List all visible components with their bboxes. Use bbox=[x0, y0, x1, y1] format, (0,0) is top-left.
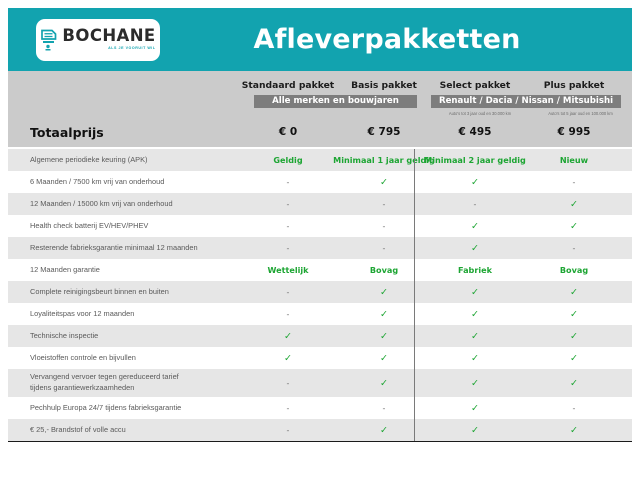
feature-label: 12 Maanden garantie bbox=[30, 259, 100, 281]
check-icon: ✓ bbox=[524, 215, 624, 237]
dash-icon: - bbox=[238, 171, 338, 193]
feature-label: Vloeistoffen controle en bijvullen bbox=[30, 347, 136, 369]
check-icon: ✓ bbox=[334, 325, 434, 347]
dash-icon: - bbox=[334, 215, 434, 237]
table-footer-space bbox=[8, 442, 632, 452]
check-icon: ✓ bbox=[425, 281, 525, 303]
dash-icon: - bbox=[238, 397, 338, 419]
check-icon: ✓ bbox=[425, 171, 525, 193]
feature-label: Vervangend vervoer tegen gereduceerd tar… bbox=[30, 369, 179, 397]
table-row: Loyaliteitspas voor 12 maanden-✓✓✓ bbox=[8, 303, 632, 325]
feature-label: Complete reinigingsbeurt binnen en buite… bbox=[30, 281, 169, 303]
table-row: Health check batterij EV/HEV/PHEV--✓✓ bbox=[8, 215, 632, 237]
check-icon: ✓ bbox=[425, 303, 525, 325]
feature-value: Minimaal 1 jaar geldig bbox=[334, 149, 434, 171]
feature-value: Bovag bbox=[334, 259, 434, 281]
feature-rows: Algemene periodieke keuring (APK)GeldigM… bbox=[8, 149, 632, 442]
feature-value: Fabriek bbox=[425, 259, 525, 281]
feature-label: € 25,- Brandstof of volle accu bbox=[30, 419, 126, 441]
check-icon: ✓ bbox=[238, 325, 338, 347]
check-icon: ✓ bbox=[334, 281, 434, 303]
feature-label: Algemene periodieke keuring (APK) bbox=[30, 149, 148, 171]
dash-icon: - bbox=[238, 369, 338, 397]
feature-label: Resterende fabrieksgarantie minimaal 12 … bbox=[30, 237, 198, 259]
check-icon: ✓ bbox=[425, 347, 525, 369]
dash-icon: - bbox=[238, 215, 338, 237]
dash-icon: - bbox=[524, 171, 624, 193]
dash-icon: - bbox=[238, 303, 338, 325]
dash-icon: - bbox=[524, 237, 624, 259]
check-icon: ✓ bbox=[524, 369, 624, 397]
table-row: 6 Maanden / 7500 km vrij van onderhoud-✓… bbox=[8, 171, 632, 193]
group-pill-left: Alle merken en bouwjaren bbox=[254, 95, 417, 108]
dash-icon: - bbox=[334, 237, 434, 259]
table-row: € 25,- Brandstof of volle accu-✓✓✓ bbox=[8, 419, 632, 441]
feature-label: Health check batterij EV/HEV/PHEV bbox=[30, 215, 148, 237]
dash-icon: - bbox=[238, 193, 338, 215]
check-icon: ✓ bbox=[425, 419, 525, 441]
check-icon: ✓ bbox=[334, 369, 434, 397]
dash-icon: - bbox=[238, 419, 338, 441]
check-icon: ✓ bbox=[425, 325, 525, 347]
table-row: Vervangend vervoer tegen gereduceerd tar… bbox=[8, 369, 632, 397]
feature-label: Loyaliteitspas voor 12 maanden bbox=[30, 303, 134, 325]
feature-value: Wettelijk bbox=[238, 259, 338, 281]
price-standaard: € 0 bbox=[238, 126, 338, 138]
price-plus: € 995 bbox=[524, 126, 624, 138]
dash-icon: - bbox=[238, 281, 338, 303]
table-row: 12 Maanden / 15000 km vrij van onderhoud… bbox=[8, 193, 632, 215]
feature-value: Minimaal 2 jaar geldig bbox=[425, 149, 525, 171]
check-icon: ✓ bbox=[334, 171, 434, 193]
column-title-plus: Plus pakket bbox=[524, 80, 624, 91]
check-icon: ✓ bbox=[425, 397, 525, 419]
page-title: Afleverpakketten bbox=[8, 24, 632, 55]
feature-label: 12 Maanden / 15000 km vrij van onderhoud bbox=[30, 193, 173, 215]
dash-icon: - bbox=[334, 193, 434, 215]
check-icon: ✓ bbox=[425, 215, 525, 237]
comparison-sheet: BOCHANE ALS JE VOORUIT WIL Afleverpakket… bbox=[8, 8, 632, 452]
price-select: € 495 bbox=[425, 126, 525, 138]
feature-label: Pechhulp Europa 24/7 tijdens fabrieksgar… bbox=[30, 397, 181, 419]
check-icon: ✓ bbox=[524, 325, 624, 347]
table-row: Resterende fabrieksgarantie minimaal 12 … bbox=[8, 237, 632, 259]
column-note-plus: Auto's tot 5 jaar oud en 100.000 km bbox=[528, 111, 632, 116]
column-title-standaard: Standaard pakket bbox=[238, 80, 338, 91]
feature-value: Geldig bbox=[238, 149, 338, 171]
check-icon: ✓ bbox=[524, 281, 624, 303]
column-header-band: Standaard pakket Basis pakket Select pak… bbox=[8, 71, 632, 119]
total-price-band: Totaalprijs € 0 € 795 € 495 € 995 bbox=[8, 119, 632, 149]
feature-label: 6 Maanden / 7500 km vrij van onderhoud bbox=[30, 171, 164, 193]
table-row: Technische inspectie✓✓✓✓ bbox=[8, 325, 632, 347]
column-title-select: Select pakket bbox=[425, 80, 525, 91]
group-pill-right: Renault / Dacia / Nissan / Mitsubishi bbox=[431, 95, 621, 108]
check-icon: ✓ bbox=[334, 419, 434, 441]
table-row: Pechhulp Europa 24/7 tijdens fabrieksgar… bbox=[8, 397, 632, 419]
check-icon: ✓ bbox=[334, 303, 434, 325]
check-icon: ✓ bbox=[524, 303, 624, 325]
page-root: BOCHANE ALS JE VOORUIT WIL Afleverpakket… bbox=[0, 0, 640, 480]
dash-icon: - bbox=[524, 397, 624, 419]
dash-icon: - bbox=[238, 237, 338, 259]
dash-icon: - bbox=[334, 397, 434, 419]
table-row: 12 Maanden garantieWettelijkBovagFabriek… bbox=[8, 259, 632, 281]
dash-icon: - bbox=[425, 193, 525, 215]
price-basis: € 795 bbox=[334, 126, 434, 138]
check-icon: ✓ bbox=[524, 193, 624, 215]
feature-label: Technische inspectie bbox=[30, 325, 98, 347]
table-row: Vloeistoffen controle en bijvullen✓✓✓✓ bbox=[8, 347, 632, 369]
table-row: Complete reinigingsbeurt binnen en buite… bbox=[8, 281, 632, 303]
check-icon: ✓ bbox=[238, 347, 338, 369]
check-icon: ✓ bbox=[334, 347, 434, 369]
column-title-basis: Basis pakket bbox=[334, 80, 434, 91]
page-banner: BOCHANE ALS JE VOORUIT WIL Afleverpakket… bbox=[8, 8, 632, 71]
column-note-select: Auto's tot 3 jaar oud en 30.000 km bbox=[430, 111, 530, 116]
feature-value: Bovag bbox=[524, 259, 624, 281]
check-icon: ✓ bbox=[425, 369, 525, 397]
feature-value: Nieuw bbox=[524, 149, 624, 171]
check-icon: ✓ bbox=[425, 237, 525, 259]
total-price-label: Totaalprijs bbox=[30, 125, 104, 140]
check-icon: ✓ bbox=[524, 347, 624, 369]
table-row: Algemene periodieke keuring (APK)GeldigM… bbox=[8, 149, 632, 171]
group-divider bbox=[414, 149, 415, 441]
check-icon: ✓ bbox=[524, 419, 624, 441]
